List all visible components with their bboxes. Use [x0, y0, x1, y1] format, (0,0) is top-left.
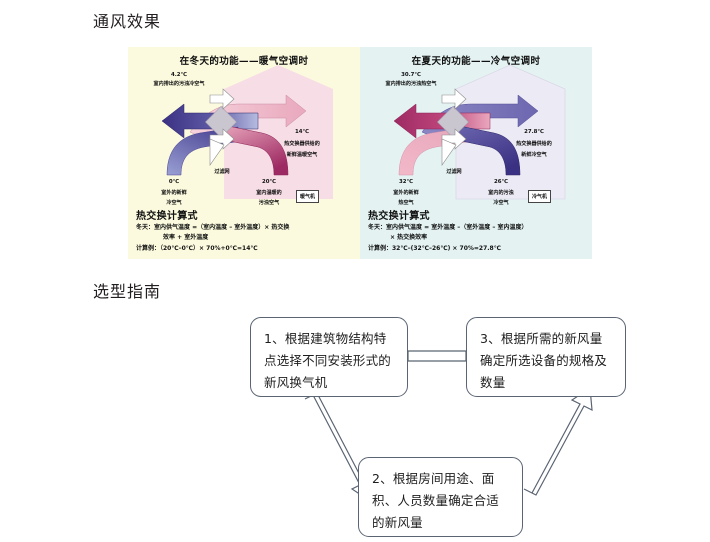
summer-return-label-2: 冷空气: [493, 199, 508, 207]
summer-intake-label-1: 室外的新鲜: [393, 189, 418, 197]
summer-panel: 在夏天的功能——冷气空调时: [360, 47, 592, 259]
winter-exhaust-label: 室内排出的污浊冷空气: [154, 80, 205, 88]
winter-formula-heading: 热交换计算式: [136, 207, 198, 222]
ventilation-diagram-figure: 在冬天的功能——暖气空调时: [128, 47, 592, 259]
winter-unit-box: 暖气机: [296, 190, 319, 203]
flow-step-1-box[interactable]: 1、根据建筑物结构特点选择不同安装形式的新风换气机: [250, 317, 408, 397]
summer-formula-heading: 热交换计算式: [368, 207, 430, 222]
winter-intake-label-2: 冷空气: [166, 199, 181, 207]
winter-return-label-1: 室内温暖的: [256, 189, 281, 197]
flow-step-3-box[interactable]: 3、根据所需的新风量确定所选设备的规格及数量: [466, 317, 626, 397]
summer-intake-label-2: 热空气: [398, 199, 413, 207]
summer-filter-label: 过滤网: [446, 168, 461, 176]
selection-guide-flowchart: 1、根据建筑物结构特点选择不同安装形式的新风换气机 3、根据所需的新风量确定所选…: [0, 300, 710, 542]
summer-formula-line-3: 计算例：32℃–(32℃–26℃) × 70%=27.8℃: [368, 244, 501, 253]
winter-exhaust-temp: 4.2℃: [171, 71, 187, 79]
winter-formula-line-1: 冬天：室内供气温度 =（室内温度 – 室外温度）× 热交换: [136, 223, 289, 232]
winter-return-label-2: 污浊空气: [259, 199, 279, 207]
summer-formula-line-1: 冬天：室内供气温度 = 室外温度 –（室外温度 – 室内温度）: [368, 223, 527, 232]
winter-panel: 在冬天的功能——暖气空调时: [128, 47, 360, 259]
winter-intake-temp: 0℃: [169, 178, 179, 186]
page-title-selection: 选型指南: [93, 278, 161, 302]
summer-exhaust-temp: 30.7℃: [401, 71, 421, 79]
flow-step-2-box[interactable]: 2、根据房间用途、面积、人员数量确定合适的新风量: [358, 457, 523, 537]
winter-return-temp: 20℃: [262, 178, 276, 186]
summer-supply-temp: 27.8℃: [524, 128, 544, 136]
summer-unit-box: 冷气机: [528, 190, 551, 203]
summer-supply-label-2: 新鲜冷空气: [521, 151, 546, 159]
summer-supply-label-1: 热交换器供给的: [516, 140, 552, 148]
summer-return-label-1: 室内的污浊: [488, 189, 513, 197]
winter-formula-line-2: 效率 + 室外温度: [163, 233, 208, 242]
winter-intake-label-1: 室外的新鲜: [161, 189, 186, 197]
winter-supply-label-2: 新鲜温暖空气: [287, 151, 318, 159]
winter-formula-line-3: 计算例：（20℃–0℃）× 70%+0℃=14℃: [136, 244, 258, 253]
summer-formula-line-2: × 热交换效率: [390, 233, 427, 242]
page-title-ventilation: 通风效果: [93, 8, 161, 32]
summer-return-temp: 26℃: [494, 178, 508, 186]
summer-intake-temp: 32℃: [399, 178, 413, 186]
summer-exhaust-label: 室内排出的污浊热空气: [386, 80, 437, 88]
winter-supply-label-1: 热交换器供给的: [284, 140, 320, 148]
winter-filter-label: 过滤网: [214, 168, 229, 176]
winter-supply-temp: 14℃: [295, 128, 309, 136]
